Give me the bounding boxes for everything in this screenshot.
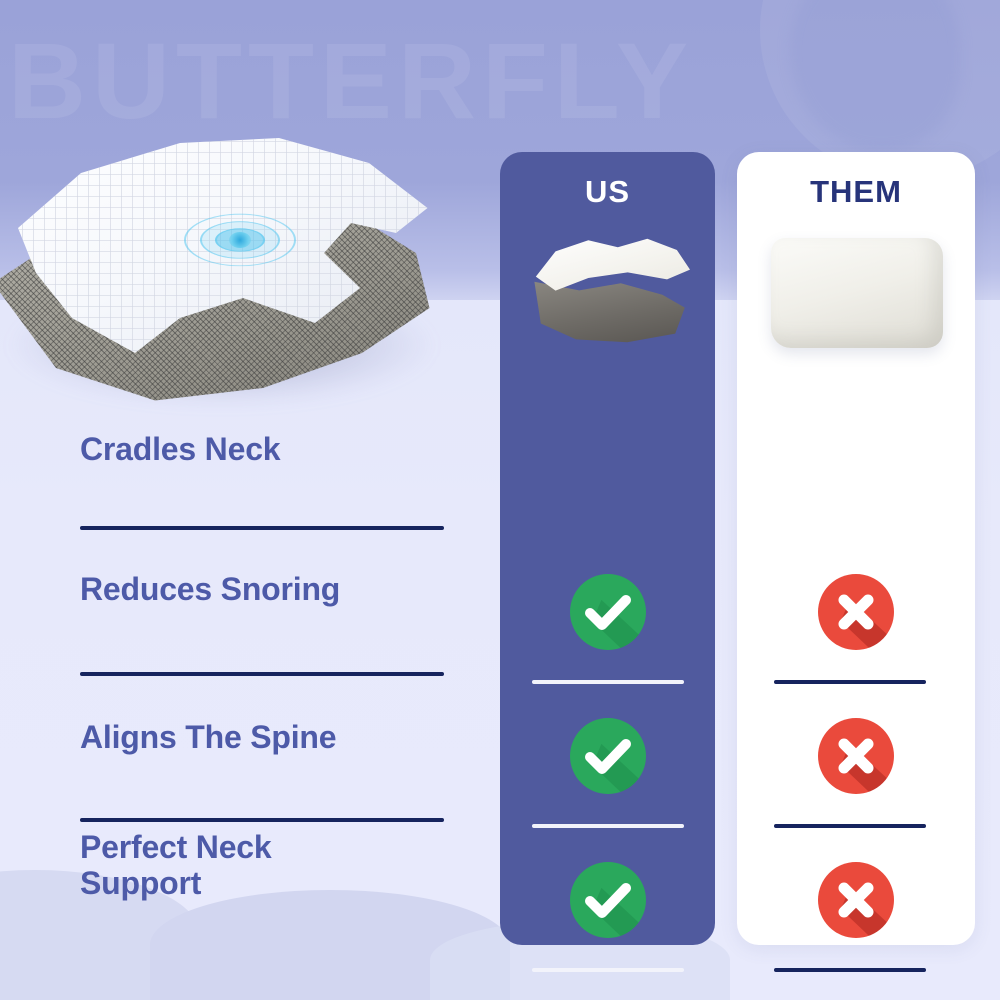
feature-divider-1 xyxy=(80,672,444,676)
feature-item-0: Cradles Neck xyxy=(80,432,444,468)
comparison-column-us: US xyxy=(500,152,715,945)
column-title-them: THEM xyxy=(737,174,975,210)
column-divider-us-1 xyxy=(532,824,684,828)
column-product-image-them xyxy=(771,238,943,348)
feature-item-2: Aligns The Spine xyxy=(80,720,444,756)
cross-icon xyxy=(818,574,894,650)
cross-icon xyxy=(818,718,894,794)
column-product-image-us xyxy=(518,228,698,356)
mark-row-1 xyxy=(737,718,975,794)
comparison-column-them: THEM xyxy=(737,152,975,945)
cooling-tech-glow-icon xyxy=(180,195,300,285)
mark-row-1 xyxy=(500,718,715,794)
column-divider-them-2 xyxy=(774,968,926,972)
mark-row-0 xyxy=(737,574,975,650)
column-divider-us-0 xyxy=(532,680,684,684)
mark-row-2 xyxy=(500,862,715,938)
feature-item-3: Perfect Neck Support xyxy=(80,830,380,902)
comparison-infographic: BUTTERFLY Cradles Neck Reduces Snoring A… xyxy=(0,0,1000,1000)
feature-label: Reduces Snoring xyxy=(80,572,444,608)
feature-divider-2 xyxy=(80,818,444,822)
mark-row-2 xyxy=(737,862,975,938)
check-icon xyxy=(570,574,646,650)
hero-product-image xyxy=(0,95,492,425)
check-icon xyxy=(570,862,646,938)
feature-label: Perfect Neck Support xyxy=(80,830,350,902)
feature-divider-0 xyxy=(80,526,444,530)
column-divider-them-0 xyxy=(774,680,926,684)
feature-label: Aligns The Spine xyxy=(80,720,444,756)
mark-row-0 xyxy=(500,574,715,650)
cross-icon xyxy=(818,862,894,938)
column-title-us: US xyxy=(500,174,715,210)
glow-core xyxy=(229,232,251,248)
feature-item-1: Reduces Snoring xyxy=(80,572,444,608)
column-divider-them-1 xyxy=(774,824,926,828)
column-divider-us-2 xyxy=(532,968,684,972)
check-icon xyxy=(570,718,646,794)
feature-label: Cradles Neck xyxy=(80,432,444,468)
